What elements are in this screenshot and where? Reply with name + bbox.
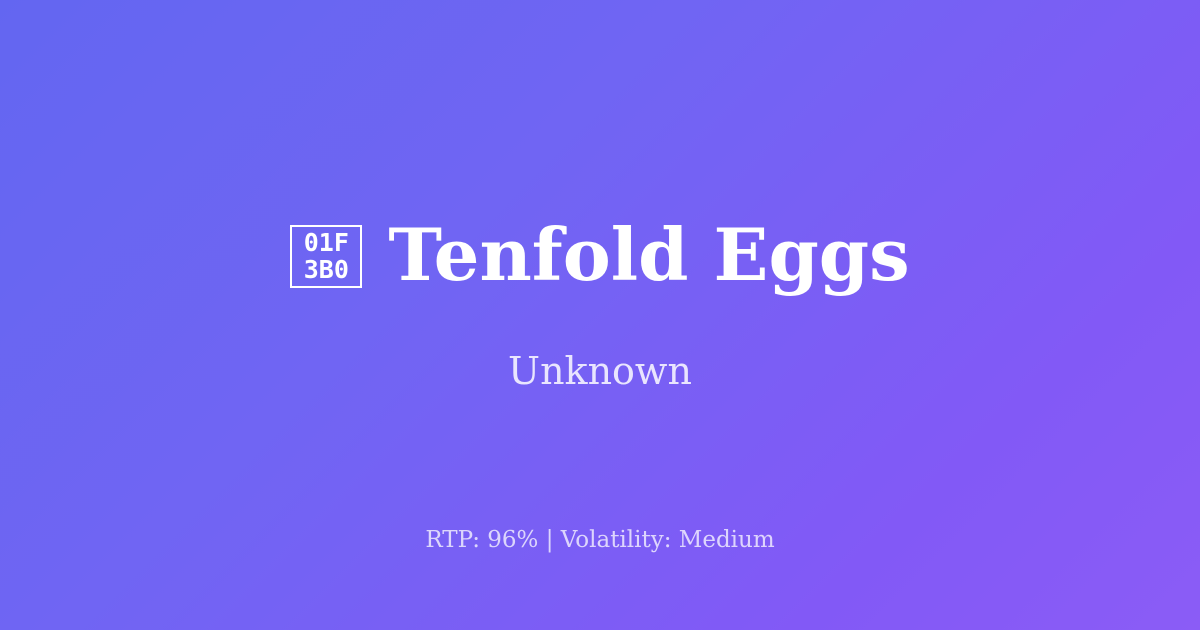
codepoint-bottom: 3B0 <box>304 256 349 283</box>
game-subtitle: Unknown <box>508 352 692 390</box>
card-hero: 01F 3B0 Tenfold Eggs Unknown <box>0 205 1200 390</box>
slot-machine-icon: 01F 3B0 <box>290 225 362 288</box>
game-meta-line: RTP: 96% | Volatility: Medium <box>0 529 1200 552</box>
codepoint-top: 01F <box>304 229 349 256</box>
game-share-card: 01F 3B0 Tenfold Eggs Unknown RTP: 96% | … <box>0 0 1200 630</box>
title-row: 01F 3B0 Tenfold Eggs <box>290 205 909 305</box>
game-title: Tenfold Eggs <box>388 219 909 291</box>
